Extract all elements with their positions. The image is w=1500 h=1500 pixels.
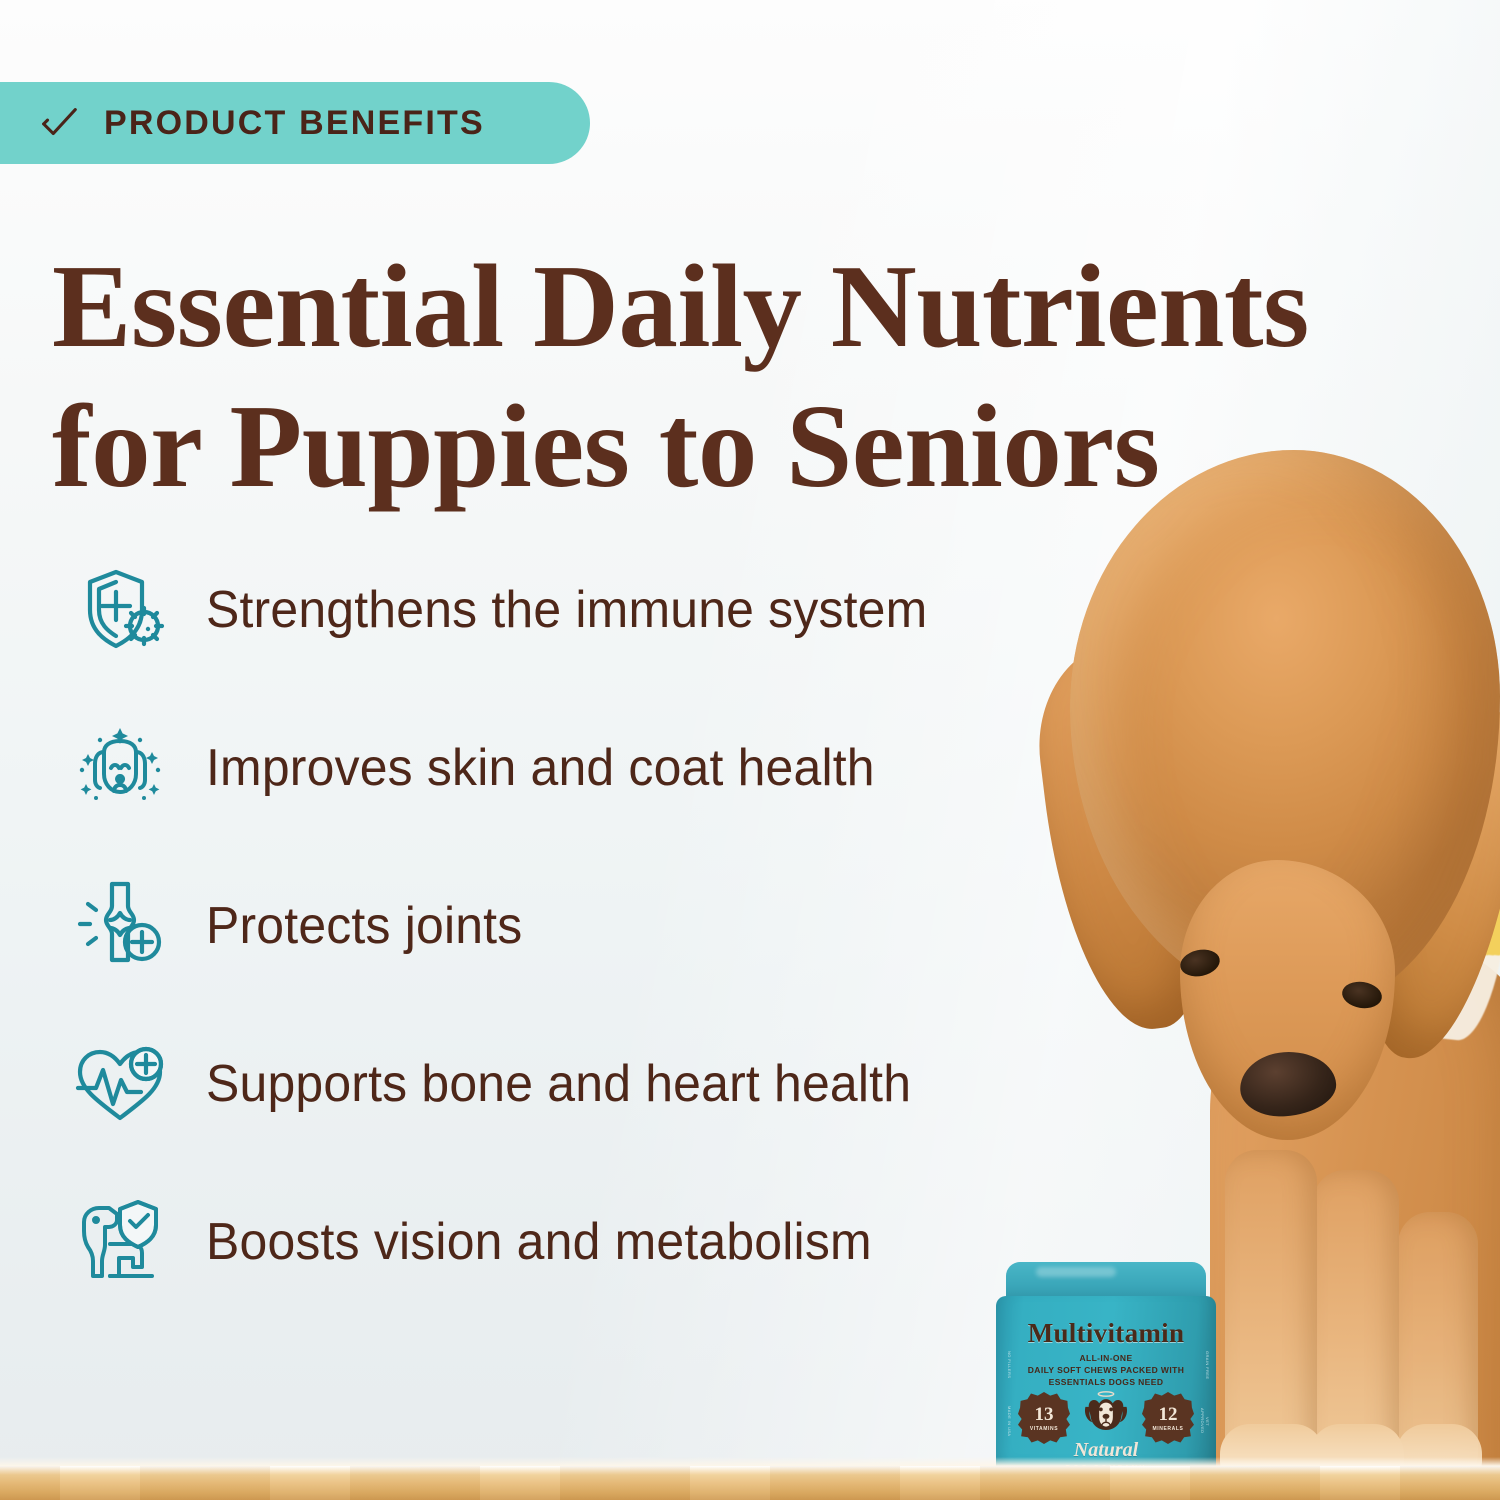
page-title: Essential Daily Nutrients for Puppies to…	[52, 236, 1462, 517]
dog-shield-icon	[60, 1187, 180, 1297]
bulldog-mascot-icon	[1080, 1423, 1132, 1440]
jar-lid-highlight	[1036, 1267, 1116, 1277]
benefit-item: Improves skin and coat health	[60, 706, 1120, 830]
benefit-label: Supports bone and heart health	[206, 1054, 911, 1114]
headline-line-1: Essential Daily Nutrients	[52, 240, 1309, 372]
benefits-list: Strengthens the immune system	[60, 548, 1120, 1338]
product-jar: NO FILLERS MADE IN USA GRAIN FREE VET AP…	[992, 1262, 1220, 1480]
joint-bone-icon	[60, 871, 180, 981]
jar-product-title: Multivitamin	[996, 1318, 1216, 1349]
jar-side-text: GRAIN FREE	[1200, 1348, 1210, 1382]
jar-subtitle-line-3: ESSENTIALS DOGS NEED	[1022, 1376, 1190, 1388]
benefit-item: Supports bone and heart health	[60, 1022, 1120, 1146]
jar-subtitle-line-2: DAILY SOFT CHEWS PACKED WITH	[1022, 1364, 1190, 1376]
jar-subtitle-line-1: ALL-IN-ONE	[1022, 1352, 1190, 1364]
benefit-item: Boosts vision and metabolism	[60, 1180, 1120, 1304]
product-benefits-label: PRODUCT BENEFITS	[104, 104, 485, 143]
benefit-label: Strengthens the immune system	[206, 580, 927, 640]
benefit-label: Protects joints	[206, 896, 522, 956]
benefit-item: Strengthens the immune system	[60, 548, 1120, 672]
floor-edge	[0, 1457, 1500, 1466]
check-icon	[36, 100, 82, 146]
product-benefits-banner: PRODUCT BENEFITS Essential Daily Nutrien…	[0, 0, 1500, 1500]
benefit-item: Protects joints	[60, 864, 1120, 988]
wooden-floor	[0, 1466, 1500, 1500]
heart-pulse-icon	[60, 1029, 180, 1139]
product-benefits-badge: PRODUCT BENEFITS	[0, 82, 590, 164]
benefit-label: Boosts vision and metabolism	[206, 1212, 872, 1272]
jar-body: NO FILLERS MADE IN USA GRAIN FREE VET AP…	[996, 1296, 1216, 1480]
shield-virus-icon	[60, 555, 180, 665]
dog-sparkle-icon	[60, 713, 180, 823]
headline-line-2: for Puppies to Seniors	[52, 376, 1462, 516]
jar-subtitle: ALL-IN-ONE DAILY SOFT CHEWS PACKED WITH …	[1022, 1352, 1190, 1388]
benefit-label: Improves skin and coat health	[206, 738, 875, 798]
jar-side-text: NO FILLERS	[1002, 1348, 1012, 1382]
